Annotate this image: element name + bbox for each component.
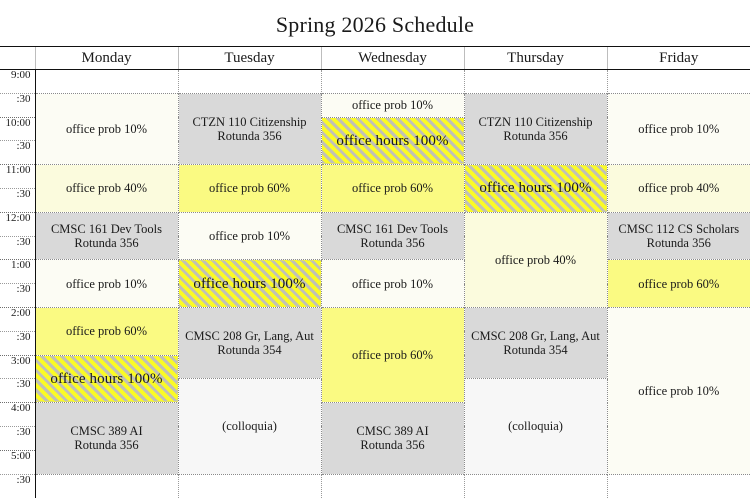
office-probability-block[interactable]: office prob 40% [607,165,750,213]
time-label: 10:00 [0,117,35,141]
office-probability-block[interactable]: office prob 10% [35,260,178,308]
schedule-row: :30 [0,474,750,498]
block-title: office prob 60% [324,348,462,362]
time-label: 1:00 [0,260,35,284]
office-hours-block[interactable]: office hours 100% [178,260,321,308]
block-title: office prob 10% [324,277,462,291]
block-title: CTZN 110 Citizenship [181,115,319,129]
class-block[interactable]: CMSC 161 Dev ToolsRotunda 356 [35,212,178,260]
block-title: office prob 40% [467,253,605,267]
block-title: CMSC 112 CS Scholars [610,222,749,236]
schedule-page: Spring 2026 Schedule Monday Tuesday Wedn… [0,0,750,500]
block-title: office prob 60% [324,181,462,195]
time-label: :30 [0,284,35,308]
block-title: CMSC 389 AI [324,424,462,438]
block-title: office prob 60% [38,324,176,338]
office-probability-block[interactable]: office prob 10% [321,260,464,308]
office-probability-block[interactable]: office prob 60% [321,165,464,213]
office-probability-block[interactable]: office prob 40% [464,212,607,307]
time-label: :30 [0,236,35,260]
block-room: Rotunda 354 [467,343,605,357]
block-title: office hours 100% [38,372,176,386]
class-block[interactable]: CMSC 389 AIRotunda 356 [35,403,178,474]
block-room: Rotunda 356 [38,236,176,250]
schedule-row: 12:00CMSC 161 Dev ToolsRotunda 356office… [0,212,750,236]
block-title: office hours 100% [467,181,605,195]
empty-slot [35,70,178,94]
block-title: office prob 10% [38,277,176,291]
schedule-header: Monday Tuesday Wednesday Thursday Friday [0,47,750,70]
block-room: Rotunda 356 [467,129,605,143]
empty-slot [35,474,178,498]
schedule-row: :30office prob 10%CTZN 110 CitizenshipRo… [0,93,750,117]
time-label: :30 [0,426,35,450]
time-column-header [0,47,35,70]
block-title: office hours 100% [324,134,462,148]
block-title: CMSC 161 Dev Tools [38,222,176,236]
empty-slot [321,474,464,498]
block-title: office prob 10% [181,229,319,243]
block-room: Rotunda 356 [324,438,462,452]
day-header-friday: Friday [607,47,750,70]
time-label: :30 [0,141,35,165]
time-label: :30 [0,331,35,355]
empty-slot [178,474,321,498]
day-header-monday: Monday [35,47,178,70]
block-room: Rotunda 356 [181,129,319,143]
office-probability-block[interactable]: office prob 40% [35,165,178,213]
page-title: Spring 2026 Schedule [0,0,750,46]
class-block[interactable]: CMSC 208 Gr, Lang, AutRotunda 354 [464,307,607,378]
office-hours-block[interactable]: office hours 100% [35,355,178,403]
colloquia-block[interactable]: (colloquia) [464,379,607,474]
time-label: :30 [0,188,35,212]
office-probability-block[interactable]: office prob 60% [35,307,178,355]
class-block[interactable]: CTZN 110 CitizenshipRotunda 356 [464,93,607,164]
time-label: :30 [0,379,35,403]
office-hours-block[interactable]: office hours 100% [464,165,607,213]
block-title: office prob 10% [610,384,749,398]
schedule-row: 1:00office prob 10%office hours 100%offi… [0,260,750,284]
office-probability-block[interactable]: office prob 10% [178,212,321,260]
time-label: 3:00 [0,355,35,379]
block-title: (colloquia) [467,419,605,433]
block-title: (colloquia) [181,419,319,433]
schedule-grid: 9:00:30office prob 10%CTZN 110 Citizensh… [0,70,750,498]
schedule-row: 2:00office prob 60%CMSC 208 Gr, Lang, Au… [0,307,750,331]
schedule-row: 11:00office prob 40%office prob 60%offic… [0,165,750,189]
block-title: office prob 60% [181,181,319,195]
block-title: CMSC 208 Gr, Lang, Aut [181,329,319,343]
time-label: 5:00 [0,450,35,474]
class-block[interactable]: CMSC 161 Dev ToolsRotunda 356 [321,212,464,260]
office-probability-block[interactable]: office prob 10% [607,307,750,474]
time-label: :30 [0,474,35,498]
block-room: Rotunda 356 [38,438,176,452]
empty-slot [464,70,607,94]
block-title: office prob 60% [610,277,749,291]
block-title: office prob 40% [38,181,176,195]
office-probability-block[interactable]: office prob 60% [321,307,464,402]
schedule-row: 9:00 [0,70,750,94]
empty-slot [607,474,750,498]
day-header-thursday: Thursday [464,47,607,70]
time-label: 12:00 [0,212,35,236]
empty-slot [321,70,464,94]
block-room: Rotunda 356 [610,236,749,250]
class-block[interactable]: CMSC 208 Gr, Lang, AutRotunda 354 [178,307,321,378]
time-label: 2:00 [0,307,35,331]
time-label: 4:00 [0,403,35,427]
office-probability-block[interactable]: office prob 10% [607,93,750,164]
empty-slot [607,70,750,94]
office-probability-block[interactable]: office prob 60% [178,165,321,213]
empty-slot [464,474,607,498]
block-room: Rotunda 354 [181,343,319,357]
block-title: office prob 10% [324,98,462,112]
office-hours-block[interactable]: office hours 100% [321,117,464,165]
class-block[interactable]: CTZN 110 CitizenshipRotunda 356 [178,93,321,164]
block-title: office prob 10% [38,122,176,136]
empty-slot [178,70,321,94]
office-probability-block[interactable]: office prob 60% [607,260,750,308]
class-block[interactable]: CMSC 112 CS ScholarsRotunda 356 [607,212,750,260]
block-title: CMSC 389 AI [38,424,176,438]
schedule-table: Monday Tuesday Wednesday Thursday Friday… [0,46,750,498]
time-label: :30 [0,93,35,117]
day-header-tuesday: Tuesday [178,47,321,70]
time-label: 11:00 [0,165,35,189]
header-row: Monday Tuesday Wednesday Thursday Friday [0,47,750,70]
block-title: CMSC 208 Gr, Lang, Aut [467,329,605,343]
day-header-wednesday: Wednesday [321,47,464,70]
time-label: 9:00 [0,70,35,94]
office-probability-block[interactable]: office prob 10% [321,93,464,117]
block-title: office prob 10% [610,122,749,136]
class-block[interactable]: CMSC 389 AIRotunda 356 [321,403,464,474]
block-title: CTZN 110 Citizenship [467,115,605,129]
office-probability-block[interactable]: office prob 10% [35,93,178,164]
block-title: office prob 40% [610,181,749,195]
block-room: Rotunda 356 [324,236,462,250]
colloquia-block[interactable]: (colloquia) [178,379,321,474]
block-title: office hours 100% [181,277,319,291]
block-title: CMSC 161 Dev Tools [324,222,462,236]
